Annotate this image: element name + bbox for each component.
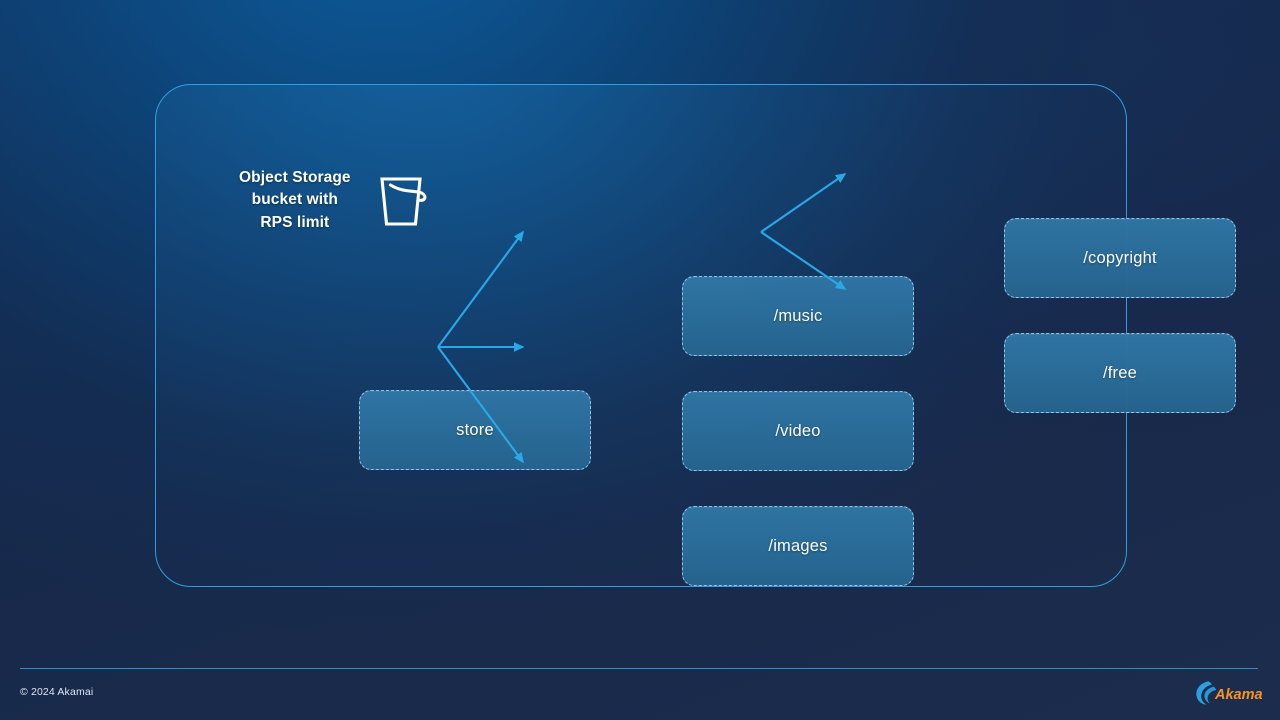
slide-canvas: Object Storage bucket with RPS limit sto… <box>0 0 1280 720</box>
footer-divider <box>20 668 1258 669</box>
node-copyright-label: /copyright <box>1083 249 1157 268</box>
node-store[interactable]: store <box>359 390 591 470</box>
diagram-frame: Object Storage bucket with RPS limit sto… <box>155 84 1127 587</box>
node-free-label: /free <box>1103 364 1137 383</box>
footer-copyright: © 2024 Akamai <box>20 686 93 698</box>
node-free[interactable]: /free <box>1004 333 1236 413</box>
node-music-label: /music <box>774 307 823 326</box>
edge-store-music <box>438 232 523 347</box>
object-storage-bucket-label: Object Storage bucket with RPS limit <box>239 167 351 234</box>
akamai-wordmark: Akamai <box>1214 687 1262 703</box>
node-images[interactable]: /images <box>682 506 914 586</box>
bucket-icon <box>373 170 435 232</box>
akamai-logo: Akamai <box>1194 678 1262 706</box>
node-music[interactable]: /music <box>682 276 914 356</box>
node-store-label: store <box>456 421 494 440</box>
node-images-label: /images <box>768 537 827 556</box>
edge-music-copyright <box>761 174 845 232</box>
node-video[interactable]: /video <box>682 391 914 471</box>
diagram-arrows <box>156 85 1128 588</box>
node-copyright[interactable]: /copyright <box>1004 218 1236 298</box>
node-video-label: /video <box>775 422 820 441</box>
object-storage-bucket-group: Object Storage bucket with RPS limit <box>239 167 435 234</box>
